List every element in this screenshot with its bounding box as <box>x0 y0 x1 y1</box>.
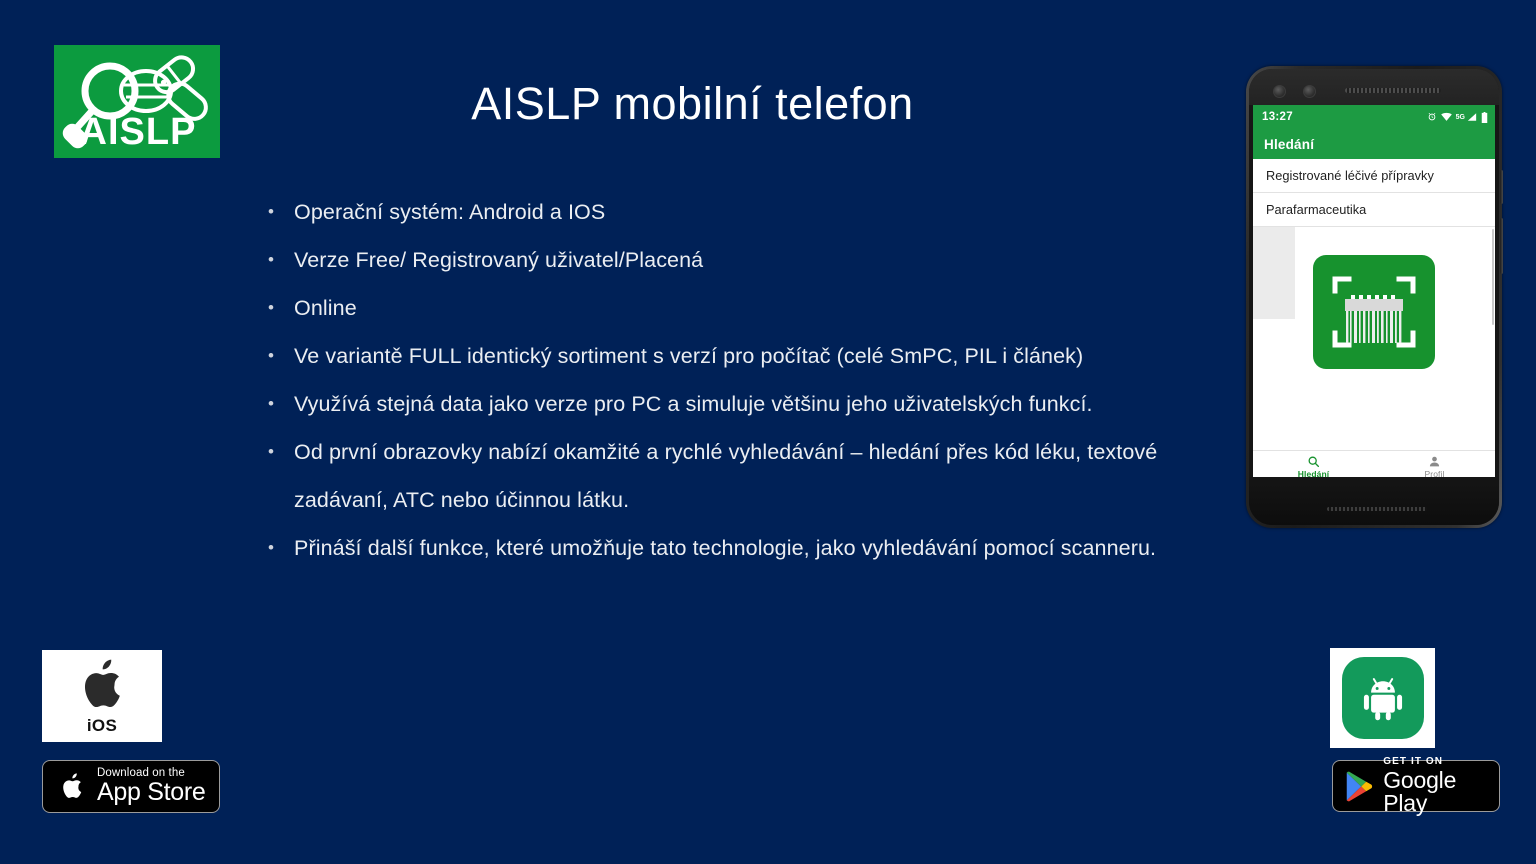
android-robot-icon <box>1357 672 1409 724</box>
list-item-label: Využívá stejná data jako verze pro PC a … <box>294 380 1093 428</box>
phone-top-bezel <box>1249 69 1499 105</box>
status-bar-icons: 5G <box>1427 112 1488 123</box>
phone-bottom-bezel <box>1249 477 1499 525</box>
app-store-badge-text: Download on the App Store <box>97 768 205 806</box>
alarm-icon <box>1427 112 1437 122</box>
google-play-badge-text: GET IT ON Google Play <box>1383 757 1499 815</box>
barcode-scanner-tile[interactable] <box>1313 255 1435 369</box>
list-item: • Ve variantě FULL identický sortiment s… <box>262 332 1252 380</box>
bullet-marker-icon: • <box>262 428 294 476</box>
list-item-label: Verze Free/ Registrovaný uživatel/Placen… <box>294 236 703 284</box>
content-area <box>1253 227 1495 455</box>
status-bar-clock: 13:27 <box>1262 111 1293 123</box>
network-type-label: 5G <box>1456 114 1465 121</box>
list-item: • Od první obrazovky nabízí okamžité a r… <box>262 428 1252 524</box>
ios-label: iOS <box>87 716 117 736</box>
list-item: • Online <box>262 284 1252 332</box>
bullet-list: • Operační systém: Android a IOS • Verze… <box>262 188 1252 572</box>
phone-body: 13:27 5G <box>1249 69 1499 525</box>
aislp-logo: AISLP <box>54 45 220 158</box>
phone-screen: 13:27 5G <box>1253 105 1495 483</box>
list-item-label: Ve variantě FULL identický sortiment s v… <box>294 332 1083 380</box>
wifi-icon <box>1441 112 1452 122</box>
list-item-label: Operační systém: Android a IOS <box>294 188 605 236</box>
scrollbar[interactable] <box>1492 229 1494 325</box>
bullet-marker-icon: • <box>262 236 294 284</box>
bullet-marker-icon: • <box>262 380 294 428</box>
list-item-label: Od první obrazovky nabízí okamžité a ryc… <box>294 428 1252 524</box>
phone-mockup: 13:27 5G <box>1246 66 1502 528</box>
proximity-sensor-icon <box>1303 85 1316 98</box>
app-store-download-button[interactable]: Download on the App Store <box>42 760 220 813</box>
bullet-marker-icon: • <box>262 188 294 236</box>
list-item-label: Parafarmaceutika <box>1266 202 1366 217</box>
google-play-triangle-icon <box>1345 770 1373 803</box>
apple-logo-icon <box>57 769 87 805</box>
list-item: • Verze Free/ Registrovaný uživatel/Plac… <box>262 236 1252 284</box>
earpiece-speaker-icon <box>1345 88 1441 93</box>
svg-text:AISLP: AISLP <box>80 111 197 153</box>
list-item-registered-medicines[interactable]: Registrované léčivé přípravky <box>1253 159 1495 193</box>
search-icon <box>1307 455 1320 468</box>
list-item: • Využívá stejná data jako verze pro PC … <box>262 380 1252 428</box>
power-button[interactable] <box>1500 170 1503 204</box>
android-icon-tile <box>1342 657 1424 739</box>
bullet-marker-icon: • <box>262 284 294 332</box>
barcode-scanner-icon <box>1313 255 1435 369</box>
content-shade <box>1253 227 1295 319</box>
person-icon <box>1428 455 1441 468</box>
list-item-label: Registrované léčivé přípravky <box>1266 168 1434 183</box>
app-bar-title: Hledání <box>1264 137 1314 152</box>
status-bar: 13:27 5G <box>1253 105 1495 129</box>
search-category-list: Registrované léčivé přípravky Parafarmac… <box>1253 159 1495 227</box>
android-platform-badge <box>1330 648 1435 748</box>
list-item-parapharmaceuticals[interactable]: Parafarmaceutika <box>1253 193 1495 227</box>
ios-platform-badge: iOS <box>42 650 162 742</box>
list-item-label: Online <box>294 284 357 332</box>
app-store-big-text: App Store <box>97 780 205 805</box>
volume-button[interactable] <box>1500 218 1503 274</box>
apple-logo-icon <box>73 657 131 715</box>
battery-icon <box>1481 112 1488 123</box>
bullet-marker-icon: • <box>262 332 294 380</box>
bullet-marker-icon: • <box>262 524 294 572</box>
bottom-speaker-icon <box>1327 507 1427 511</box>
list-item: • Operační systém: Android a IOS <box>262 188 1252 236</box>
list-item-label: Přináší další funkce, které umožňuje tat… <box>294 524 1156 572</box>
phone-frame: 13:27 5G <box>1246 66 1502 528</box>
google-play-download-button[interactable]: GET IT ON Google Play <box>1332 760 1500 812</box>
google-play-big-text: Google Play <box>1383 769 1499 815</box>
google-play-small-text: GET IT ON <box>1383 757 1499 767</box>
signal-icon <box>1467 112 1477 122</box>
page-title: AISLP mobilní telefon <box>230 78 1155 130</box>
aislp-logo-graphic: AISLP <box>54 45 220 158</box>
list-item: • Přináší další funkce, které umožňuje t… <box>262 524 1252 572</box>
app-bar: Hledání <box>1253 129 1495 159</box>
front-camera-icon <box>1273 85 1286 98</box>
